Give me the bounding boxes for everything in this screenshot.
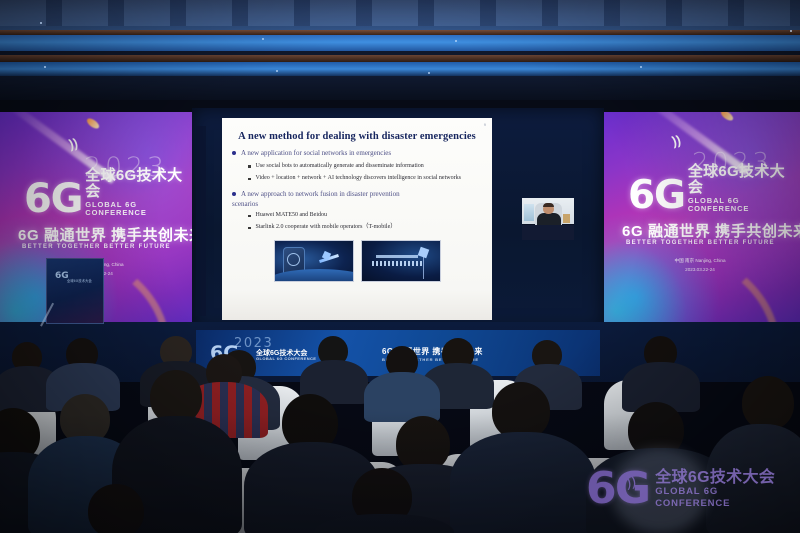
watermark-logo: 6G )) 全球6G技术大会 GLOBAL 6G CONFERENCE [586, 452, 796, 526]
image-text-bars [372, 261, 424, 266]
subbullet-dot-icon [248, 227, 251, 230]
ceiling-band-wood-lower [0, 55, 800, 62]
subbullet-text: Use social bots to automatically generat… [256, 162, 424, 171]
banner-logo: 6G )) 全球6G技术大会 GLOBAL 6G CONFERENCE [628, 164, 800, 213]
ceiling-light-speck [262, 38, 264, 40]
banner-name-cn: 全球6G技术大会 [85, 168, 196, 200]
bullet-text: A new approach to network fusion in disa… [241, 189, 400, 200]
ceiling-panels [0, 0, 800, 26]
subbullet-text: Starlink 2.0 cooperate with mobile opera… [256, 223, 397, 232]
subbullet-text: Video + location + network + AI technolo… [256, 174, 461, 183]
6g-logo-mark: 6G [24, 181, 82, 217]
subbullet-dot-icon [248, 215, 251, 218]
banner-slogan-en: BETTER TOGETHER BETTER FUTURE [22, 244, 171, 250]
presentation-slide: 9 A new method for dealing with disaster… [222, 118, 492, 320]
ceiling [0, 0, 800, 34]
banner-slogan-en: BETTER TOGETHER BETTER FUTURE [626, 240, 775, 246]
bullet-text: A new application for social networks in… [241, 148, 391, 159]
satellite-antenna-icon [423, 257, 424, 279]
watermark-6g-logo-mark: 6G [586, 463, 649, 514]
led-banner-right: 2023 6G )) 全球6G技术大会 GLOBAL 6G CONFERENCE… [600, 112, 800, 322]
video-side-object [563, 214, 570, 223]
screen-left-shadow [196, 126, 206, 316]
slide-subbullet: Starlink 2.0 cooperate with mobile opera… [248, 223, 482, 232]
image-title-bar [376, 255, 418, 258]
slide-page-number: 9 [484, 122, 486, 127]
conference-hall-photo: 2023 6G )) 全球6G技术大会 GLOBAL 6G CONFERENCE… [0, 0, 800, 533]
ceiling-light-speck [790, 30, 792, 32]
banner-slogan-cn: 6G 融通世界 携手共创未来 [622, 220, 800, 241]
satellite-network-image [361, 240, 441, 282]
watermark-name-en: GLOBAL 6G CONFERENCE [655, 486, 796, 509]
banner-place: 中国 南京 Nanjing, China [600, 258, 800, 264]
watermark-name-cn: 全球6G技术大会 [655, 469, 796, 487]
banner-date: 2023.03.22-24 [600, 267, 800, 272]
slide-subbullet: Huawei MATE50 and Beidou [248, 211, 482, 220]
comet-head-icon [85, 117, 100, 131]
subbullet-text: Huawei MATE50 and Beidou [256, 211, 328, 220]
banner-slogan-cn: 6G 融通世界 携手共创未来 [18, 224, 196, 245]
slide-bullet: A new approach to network fusion in disa… [232, 189, 482, 200]
signal-waves-icon: )) [68, 135, 80, 152]
slide-subbullet: Use social bots to automatically generat… [248, 162, 482, 171]
globe-arc-magenta [600, 244, 780, 322]
bullet-continuation-text: scenarios [232, 200, 482, 208]
bullet-dot-icon [232, 151, 236, 155]
ceiling-light-speck [455, 40, 457, 42]
phone-camera-ring-icon [287, 253, 300, 266]
ceiling-light-speck [40, 22, 42, 24]
ceiling-light-speck [44, 66, 46, 68]
video-speaker-hair [543, 203, 554, 207]
video-desk [522, 225, 574, 240]
banner-logo: 6G )) 全球6G技术大会 GLOBAL 6G CONFERENCE [24, 168, 196, 217]
slide-subbullet: Video + location + network + AI technolo… [248, 174, 482, 183]
podium-logo-text: 全球6G技术大会 [67, 278, 92, 283]
banner-name-cn: 全球6G技术大会 [688, 164, 800, 196]
signal-waves-icon: )) [670, 132, 682, 149]
slide-images [232, 240, 482, 282]
banner-name-en: GLOBAL 6G CONFERENCE [688, 197, 800, 214]
ceiling-band-light-lower [0, 62, 800, 76]
ceiling-band-light-upper [0, 35, 800, 51]
slide-title: A new method for dealing with disaster e… [232, 130, 482, 143]
ceiling-light-speck [428, 72, 430, 74]
subbullet-dot-icon [248, 165, 251, 168]
ceiling-light-speck [276, 70, 278, 72]
comet-head-icon [719, 112, 734, 122]
video-window [524, 204, 534, 221]
banner-name-en: GLOBAL 6G CONFERENCE [85, 201, 196, 218]
ceiling-light-speck [640, 66, 642, 68]
bullet-dot-icon [232, 192, 236, 196]
remote-speaker-video [522, 198, 574, 240]
slide-bullet: A new application for social networks in… [232, 148, 482, 159]
6g-logo-mark: 6G [628, 178, 685, 213]
subbullet-dot-icon [248, 178, 251, 181]
podium: 6G 全球6G技术大会 [46, 258, 104, 324]
phone-satellite-image [274, 240, 354, 282]
